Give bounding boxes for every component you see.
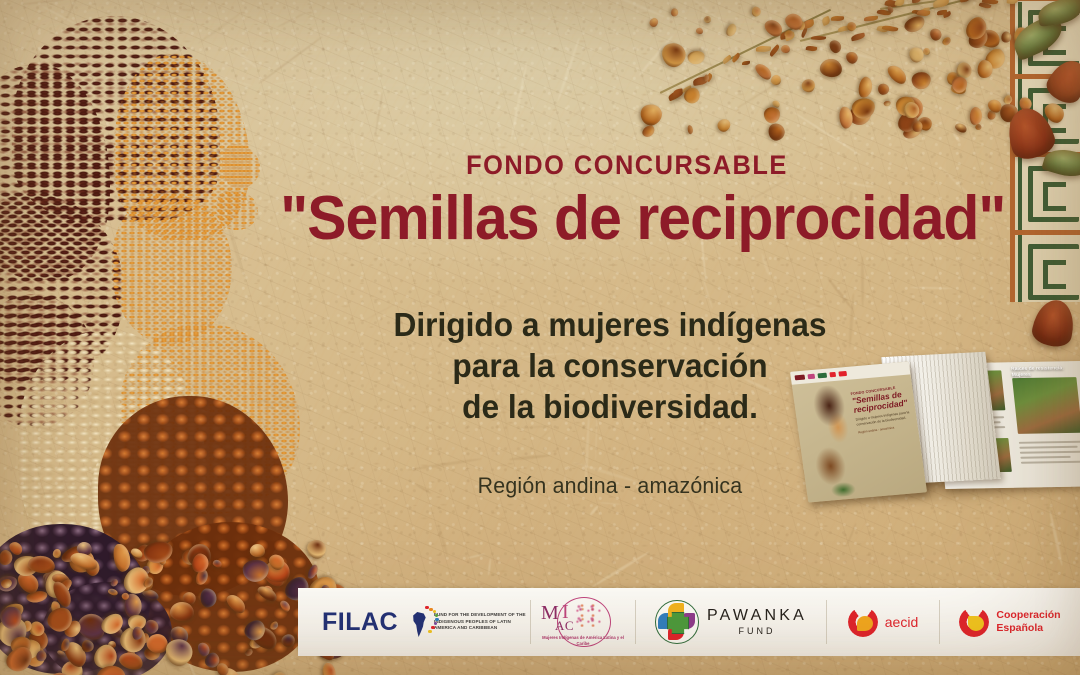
pawanka-subword: FUND: [738, 627, 775, 636]
logo-pawanka[interactable]: PAWANKA FUND: [636, 588, 826, 656]
logo-filac[interactable]: FILAC FUND FOR THE DEVELOPMENT OF THE IN…: [298, 588, 530, 656]
logo-cooperacion-espanola[interactable]: Cooperación Española: [940, 588, 1080, 656]
pawanka-wordmark: PAWANKA: [707, 608, 807, 624]
logo-aecid[interactable]: aecid: [827, 588, 939, 656]
filac-map-icon: [404, 605, 425, 639]
headline-block: FONDO CONCURSABLE "Semillas de reciproci…: [262, 152, 992, 250]
milac-flower-icon: [575, 603, 601, 627]
milac-letters-ac: AC: [555, 618, 574, 634]
lead-line-1: Dirigido a mujeres indígenas: [341, 305, 879, 346]
cooperacion-line-1: Cooperación: [996, 609, 1060, 621]
poster-canvas: FONDO CONCURSABLE "Semillas de reciproci…: [0, 0, 1080, 675]
pawanka-emblem-icon: [655, 600, 699, 644]
cooperacion-line-2: Española: [996, 622, 1043, 634]
magazine-mockup: Raíces de resistencia: Mujeres FONDO CON…: [793, 352, 1080, 520]
logo-milac[interactable]: M I AC Mujeres Indígenas de América Lati…: [531, 588, 635, 656]
kicker-text: FONDO CONCURSABLE: [284, 152, 970, 179]
magazine-cover: FONDO CONCURSABLE "Semillas de reciproci…: [790, 361, 927, 502]
aecid-wordmark: aecid: [885, 614, 918, 630]
aecid-crest-icon: [848, 607, 878, 637]
spread-heading-1: Raíces de resistencia: Mujeres: [1011, 365, 1078, 378]
cooperacion-crest-icon: [959, 607, 989, 637]
sponsor-logo-bar: FILAC FUND FOR THE DEVELOPMENT OF THE IN…: [298, 588, 1080, 656]
filac-tagline: FUND FOR THE DEVELOPMENT OF THE INDIGENO…: [431, 612, 530, 632]
milac-tagline: Mujeres Indígenas de América Latina y el…: [537, 635, 629, 647]
filac-wordmark: FILAC: [322, 608, 398, 637]
page-title: "Semillas de reciprocidad": [280, 187, 974, 250]
